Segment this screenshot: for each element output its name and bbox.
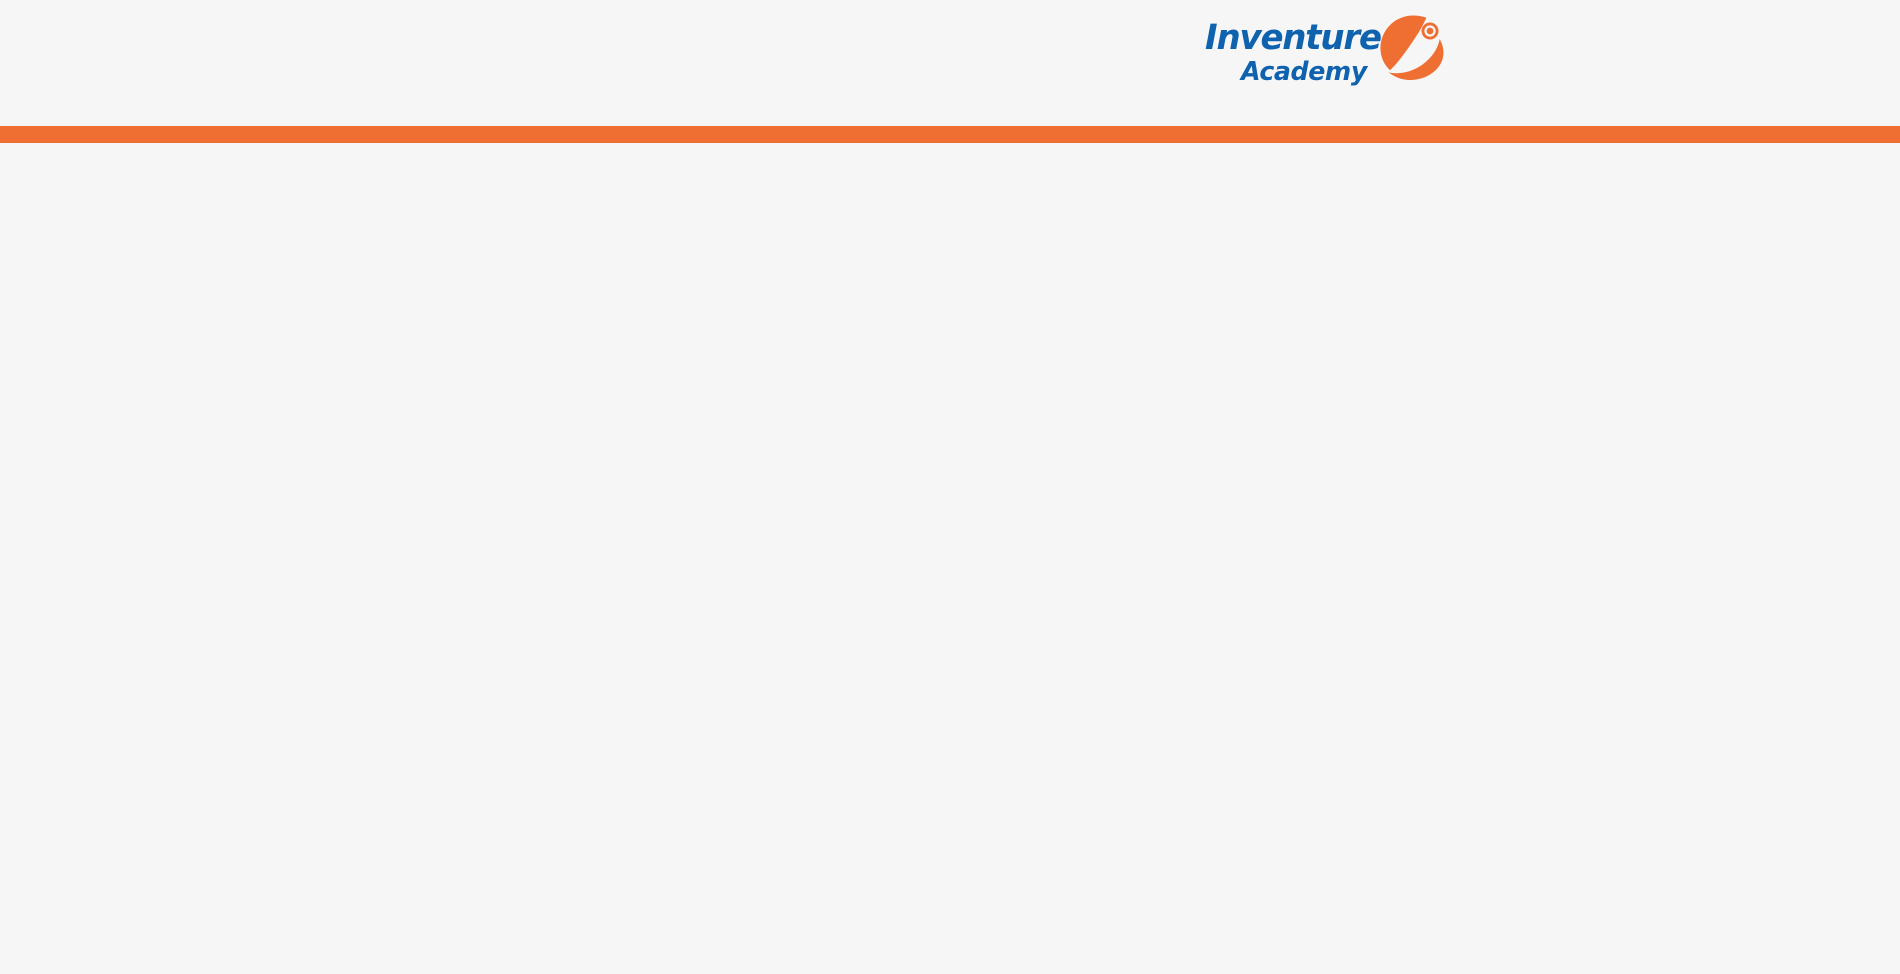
page-root: Inventure Academy xyxy=(0,0,1900,974)
main-content-area xyxy=(0,143,1900,974)
site-header: Inventure Academy xyxy=(0,0,1900,126)
logo-wordmark: Inventure Academy xyxy=(1205,17,1386,85)
header-accent-bar xyxy=(0,126,1900,143)
inventure-academy-figure-circle-icon xyxy=(1376,11,1450,85)
site-logo[interactable]: Inventure Academy xyxy=(1205,10,1455,92)
logo-text-academy: Academy xyxy=(1241,59,1367,85)
logo-text-inventure: Inventure xyxy=(1205,21,1381,56)
